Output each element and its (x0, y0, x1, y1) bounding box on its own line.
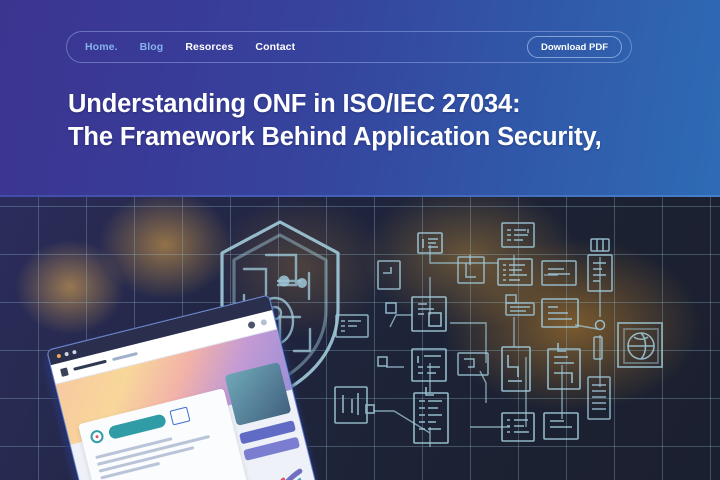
toolbar-label-line (73, 360, 107, 371)
page-title: Understanding ONF in ISO/IEC 27034: The … (68, 88, 668, 154)
nav-link-resources[interactable]: Resorces (185, 41, 233, 53)
card-frame-icon (169, 407, 190, 426)
window-dot-maximize (72, 349, 77, 354)
nav-link-home[interactable]: Home. (85, 41, 118, 53)
network-flow-diagram (330, 197, 720, 480)
window-dot-minimize (64, 351, 69, 356)
window-dot-close (56, 353, 61, 358)
navigation-bar: Home. Blog Resorces Contact Download PDF (66, 31, 632, 63)
download-pdf-button[interactable]: Download PDF (527, 36, 622, 58)
nav-link-contact[interactable]: Contact (255, 41, 295, 53)
toolbar-more-icon (260, 318, 267, 325)
card-primary-button (108, 413, 167, 440)
hero-banner-page: Home. Blog Resorces Contact Download PDF… (0, 0, 720, 480)
page-title-line-2: The Framework Behind Application Securit… (68, 121, 668, 154)
hero-illustration (0, 197, 720, 480)
page-header: Home. Blog Resorces Contact Download PDF… (0, 0, 720, 197)
decorative-swoosh-icon (256, 466, 311, 480)
target-icon (89, 429, 105, 445)
nav-links-group: Home. Blog Resorces Contact (85, 41, 295, 53)
page-title-line-1: Understanding ONF in ISO/IEC 27034: (68, 90, 520, 118)
toolbar-menu-line (112, 352, 138, 361)
nav-link-blog[interactable]: Blog (140, 41, 164, 53)
logo-mark-icon (60, 367, 69, 376)
toolbar-avatar-icon (247, 321, 255, 329)
